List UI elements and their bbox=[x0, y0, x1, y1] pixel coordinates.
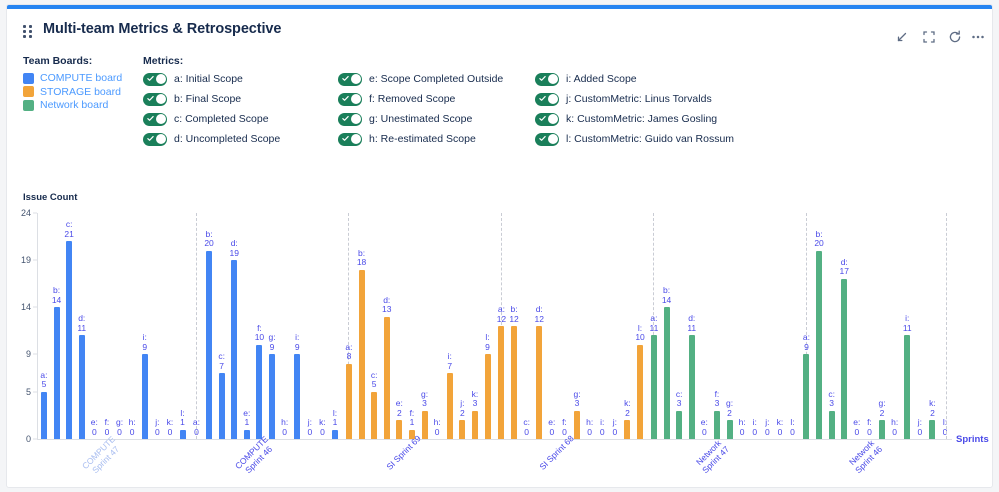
metric-toggle-h[interactable]: h: Re-estimated Scope bbox=[338, 131, 476, 147]
toggle-knob bbox=[548, 74, 558, 84]
bar-value-label: f: 0 bbox=[553, 418, 575, 437]
check-icon bbox=[342, 75, 349, 82]
toggle-knob bbox=[548, 114, 558, 124]
bar-value-label: c: 21 bbox=[58, 220, 80, 239]
metric-toggle-b[interactable]: b: Final Scope bbox=[143, 91, 241, 107]
metric-toggle-l[interactable]: l: CustomMetric: Guido van Rossum bbox=[535, 131, 734, 147]
bar[interactable] bbox=[256, 345, 262, 439]
bar-value-label: h: 0 bbox=[121, 418, 143, 437]
bar[interactable] bbox=[624, 420, 630, 439]
toggle-knob bbox=[351, 134, 361, 144]
metrics-heading: Metrics: bbox=[143, 55, 183, 67]
metric-label: d: Uncompleted Scope bbox=[174, 133, 280, 145]
metric-toggle-d[interactable]: d: Uncompleted Scope bbox=[143, 131, 280, 147]
toggle-switch[interactable] bbox=[535, 73, 559, 86]
bar-value-label: c: 3 bbox=[821, 390, 843, 409]
controls-panel: Team Boards: Metrics: COMPUTE boardSTORA… bbox=[7, 51, 993, 156]
bar-value-label: c: 0 bbox=[516, 418, 538, 437]
bar[interactable] bbox=[371, 392, 377, 439]
bar[interactable] bbox=[459, 420, 465, 439]
check-icon bbox=[539, 75, 546, 82]
toggle-switch[interactable] bbox=[338, 133, 362, 146]
toggle-switch[interactable] bbox=[535, 133, 559, 146]
board-legend-item[interactable]: STORAGE board bbox=[23, 85, 121, 99]
metric-label: k: CustomMetric: James Gosling bbox=[566, 113, 717, 125]
bar-value-label: h: 0 bbox=[274, 418, 296, 437]
metric-label: f: Removed Scope bbox=[369, 93, 455, 105]
metric-label: l: CustomMetric: Guido van Rossum bbox=[566, 133, 734, 145]
bar-value-label: h: 0 bbox=[426, 418, 448, 437]
bar[interactable] bbox=[346, 364, 352, 439]
toggle-switch[interactable] bbox=[338, 113, 362, 126]
bar[interactable] bbox=[651, 335, 657, 439]
x-axis-line bbox=[37, 439, 952, 440]
check-icon bbox=[342, 115, 349, 122]
bar[interactable] bbox=[498, 326, 504, 439]
bar-value-label: i: 7 bbox=[439, 352, 461, 371]
y-axis-tick-mark bbox=[33, 307, 37, 308]
bar-value-label: i: 9 bbox=[286, 333, 308, 352]
drag-handle-icon[interactable] bbox=[23, 25, 34, 39]
bar-value-label: h: 0 bbox=[884, 418, 906, 437]
metric-toggle-i[interactable]: i: Added Scope bbox=[535, 71, 637, 87]
bar-value-label: i: 11 bbox=[896, 314, 918, 333]
x-axis-group-label[interactable]: Network Sprint 47 bbox=[693, 437, 731, 475]
bar[interactable] bbox=[472, 411, 478, 439]
collapse-icon[interactable] bbox=[893, 28, 911, 46]
metric-label: j: CustomMetric: Linus Torvalds bbox=[566, 93, 712, 105]
bar[interactable] bbox=[359, 270, 365, 440]
refresh-icon[interactable] bbox=[946, 28, 964, 46]
y-axis-tick-mark bbox=[33, 391, 37, 392]
bar-value-label: k: 2 bbox=[921, 399, 943, 418]
bar-value-label: g: 3 bbox=[566, 390, 588, 409]
group-separator bbox=[196, 213, 197, 439]
bar[interactable] bbox=[41, 392, 47, 439]
bar-value-label: c: 5 bbox=[363, 371, 385, 390]
metric-toggle-e[interactable]: e: Scope Completed Outside bbox=[338, 71, 503, 87]
bar[interactable] bbox=[637, 345, 643, 439]
metric-toggle-c[interactable]: c: Completed Scope bbox=[143, 111, 269, 127]
y-axis-tick-mark bbox=[33, 354, 37, 355]
metric-label: a: Initial Scope bbox=[174, 73, 243, 85]
bar[interactable] bbox=[244, 430, 250, 439]
bar-value-label: d: 12 bbox=[528, 305, 550, 324]
bar[interactable] bbox=[816, 251, 822, 439]
bar-value-label: g: 3 bbox=[414, 390, 436, 409]
toggle-switch[interactable] bbox=[143, 73, 167, 86]
bar-value-label: b: 20 bbox=[808, 230, 830, 249]
gadget-header: Multi-team Metrics & Retrospective bbox=[7, 9, 993, 47]
metric-label: i: Added Scope bbox=[566, 73, 637, 85]
metric-label: b: Final Scope bbox=[174, 93, 241, 105]
bar-value-label: a: 11 bbox=[643, 314, 665, 333]
toggle-switch[interactable] bbox=[143, 113, 167, 126]
toggle-knob bbox=[351, 74, 361, 84]
fullscreen-icon[interactable] bbox=[920, 28, 938, 46]
bar-value-label: a: 9 bbox=[795, 333, 817, 352]
metric-toggle-g[interactable]: g: Unestimated Scope bbox=[338, 111, 472, 127]
y-axis-tick-mark bbox=[33, 260, 37, 261]
bar-value-label: k: 3 bbox=[464, 390, 486, 409]
toggle-knob bbox=[548, 94, 558, 104]
bar-value-label: d: 11 bbox=[71, 314, 93, 333]
metric-label: h: Re-estimated Scope bbox=[369, 133, 476, 145]
bar-value-label: a: 8 bbox=[338, 343, 360, 362]
bar-value-label: e: 1 bbox=[236, 409, 258, 428]
toggle-switch[interactable] bbox=[143, 133, 167, 146]
bar-value-label: f: 0 bbox=[858, 418, 880, 437]
board-color-swatch bbox=[23, 73, 34, 84]
team-boards-heading: Team Boards: bbox=[23, 55, 92, 67]
toggle-switch[interactable] bbox=[338, 93, 362, 106]
bar-value-label: k: 2 bbox=[616, 399, 638, 418]
bar-value-label: e: 0 bbox=[693, 418, 715, 437]
bar-value-label: b: 20 bbox=[198, 230, 220, 249]
x-axis-group-label[interactable]: Network Sprint 46 bbox=[846, 437, 884, 475]
plot-area: 059141924a: 5b: 14c: 21d: 11e: 0f: 0g: 0… bbox=[37, 213, 952, 439]
bar[interactable] bbox=[676, 411, 682, 439]
board-label: COMPUTE board bbox=[40, 72, 122, 84]
toggle-knob bbox=[351, 94, 361, 104]
bar[interactable] bbox=[54, 307, 60, 439]
bar-value-label: d: 13 bbox=[376, 296, 398, 315]
bar-value-label: a: 5 bbox=[33, 371, 55, 390]
metric-toggle-f[interactable]: f: Removed Scope bbox=[338, 91, 455, 107]
toggle-knob bbox=[156, 94, 166, 104]
toggle-knob bbox=[156, 114, 166, 124]
bar-value-label: d: 17 bbox=[833, 258, 855, 277]
bar-value-label: l: 9 bbox=[477, 333, 499, 352]
y-axis-title: Issue Count bbox=[23, 192, 77, 203]
toggle-switch[interactable] bbox=[338, 73, 362, 86]
more-actions-icon[interactable] bbox=[969, 28, 987, 46]
bar-value-label: b: 14 bbox=[46, 286, 68, 305]
bar[interactable] bbox=[664, 307, 670, 439]
board-color-swatch bbox=[23, 86, 34, 97]
check-icon bbox=[147, 135, 154, 142]
toggle-knob bbox=[351, 114, 361, 124]
bar[interactable] bbox=[332, 430, 338, 439]
toggle-switch[interactable] bbox=[535, 93, 559, 106]
board-legend-item[interactable]: COMPUTE board bbox=[23, 71, 122, 85]
bar-value-label: b: 18 bbox=[351, 249, 373, 268]
bar-value-label: f: 1 bbox=[401, 409, 423, 428]
board-legend-item[interactable]: Network board bbox=[23, 98, 108, 112]
bar-value-label: a: 0 bbox=[185, 418, 207, 437]
bar[interactable] bbox=[829, 411, 835, 439]
bar-value-label: g: 9 bbox=[261, 333, 283, 352]
bar-value-label: g: 2 bbox=[871, 399, 893, 418]
bar-value-label: j: 0 bbox=[604, 418, 626, 437]
check-icon bbox=[147, 115, 154, 122]
check-icon bbox=[342, 95, 349, 102]
metric-label: e: Scope Completed Outside bbox=[369, 73, 503, 85]
metric-label: g: Unestimated Scope bbox=[369, 113, 472, 125]
check-icon bbox=[147, 75, 154, 82]
bar[interactable] bbox=[841, 279, 847, 439]
dashboard-gadget-card: Multi-team Metrics & Retrospective bbox=[6, 4, 993, 488]
metric-label: c: Completed Scope bbox=[174, 113, 269, 125]
group-separator bbox=[946, 213, 947, 439]
board-label: Network board bbox=[40, 99, 108, 111]
x-axis-group-label[interactable]: COMPUTE Sprint 47 bbox=[80, 434, 124, 478]
metric-toggle-j[interactable]: j: CustomMetric: Linus Torvalds bbox=[535, 91, 712, 107]
toggle-knob bbox=[548, 134, 558, 144]
x-axis-group-label[interactable]: COMPUTE Sprint 46 bbox=[233, 434, 277, 478]
bar-value-label: d: 11 bbox=[681, 314, 703, 333]
bar-value-label: d: 19 bbox=[223, 239, 245, 258]
bar[interactable] bbox=[384, 317, 390, 439]
bar[interactable] bbox=[219, 373, 225, 439]
bar[interactable] bbox=[803, 354, 809, 439]
bar-value-label: j: 0 bbox=[909, 418, 931, 437]
toggle-knob bbox=[156, 134, 166, 144]
x-axis-title: Sprints bbox=[956, 434, 989, 445]
bar-value-label: l: 1 bbox=[324, 409, 346, 428]
metric-toggle-a[interactable]: a: Initial Scope bbox=[143, 71, 243, 87]
metric-toggle-k[interactable]: k: CustomMetric: James Gosling bbox=[535, 111, 717, 127]
check-icon bbox=[539, 95, 546, 102]
board-label: STORAGE board bbox=[40, 86, 121, 98]
bar[interactable] bbox=[206, 251, 212, 439]
page-title: Multi-team Metrics & Retrospective bbox=[43, 21, 281, 37]
bar-value-label: b: 14 bbox=[656, 286, 678, 305]
bar-value-label: i: 9 bbox=[134, 333, 156, 352]
check-icon bbox=[539, 135, 546, 142]
bar-value-label: c: 7 bbox=[211, 352, 233, 371]
check-icon bbox=[342, 135, 349, 142]
check-icon bbox=[147, 95, 154, 102]
check-icon bbox=[539, 115, 546, 122]
bar[interactable] bbox=[485, 354, 491, 439]
y-axis-tick-mark bbox=[33, 439, 37, 440]
bar[interactable] bbox=[66, 241, 72, 439]
bar-value-label: l: 0 bbox=[782, 418, 804, 437]
bar-chart: Issue Count 059141924a: 5b: 14c: 21d: 11… bbox=[7, 156, 993, 488]
bar-value-label: c: 3 bbox=[668, 390, 690, 409]
toggle-switch[interactable] bbox=[143, 93, 167, 106]
bar-value-label: g: 2 bbox=[719, 399, 741, 418]
y-axis-tick-mark bbox=[33, 213, 37, 214]
toggle-switch[interactable] bbox=[535, 113, 559, 126]
toggle-knob bbox=[156, 74, 166, 84]
board-color-swatch bbox=[23, 100, 34, 111]
bar-value-label: b: 12 bbox=[503, 305, 525, 324]
